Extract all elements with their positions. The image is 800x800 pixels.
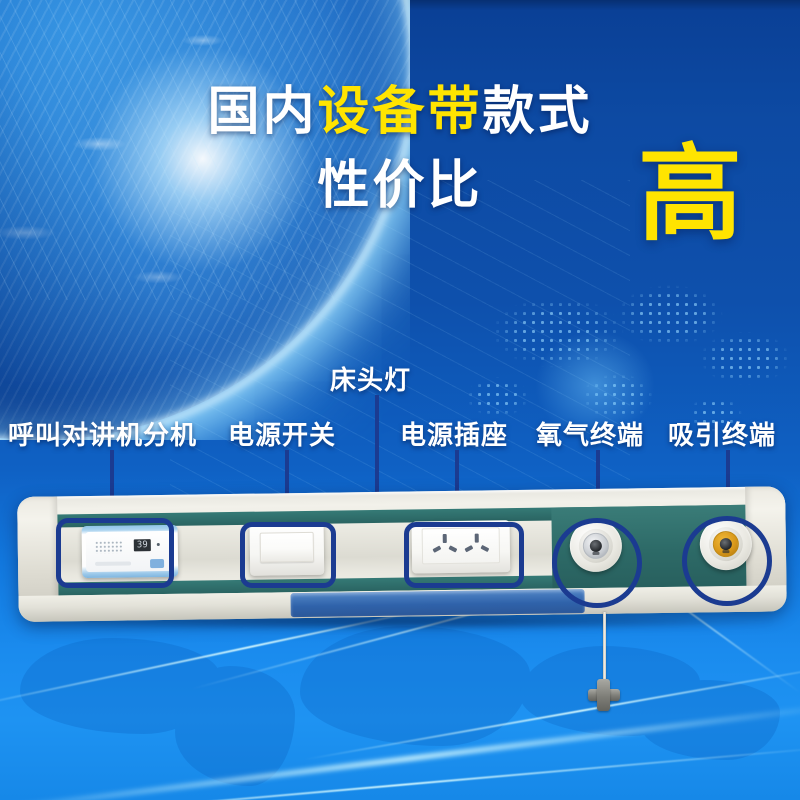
headline-line-1-part-2: 款式 [483,82,593,142]
bed-head-panel: 39 [17,486,787,622]
headline-line-1: 国内设备带款式 [0,86,800,138]
callout-label-oxygen: 氧气终端 [536,415,644,452]
power-outlet-icon[interactable] [462,533,494,559]
power-outlet-icon[interactable] [430,534,462,560]
status-led-icon [157,543,160,546]
intercom-slot [95,561,131,566]
callout-label-intercom: 呼叫对讲机分机 [8,415,197,452]
headline-line-1-highlight: 设备带 [317,82,482,142]
power-socket[interactable] [412,520,511,573]
callout-label-suction: 吸引终端 [668,415,776,452]
callout-label-power-socket: 电源插座 [400,415,508,452]
headline-big-word: 高 [638,142,742,246]
pull-cord-handle[interactable] [586,678,622,712]
power-switch[interactable] [250,523,325,576]
rocker-switch-icon[interactable] [260,532,314,563]
product-banner: 国内设备带款式 性价比 高 呼叫对讲机分机 电源开关 床头灯 电源插座 氧气终端… [0,0,800,800]
pull-cord-icon[interactable] [603,612,606,684]
lcd-display-icon: 39 [134,539,151,551]
nurse-call-intercom[interactable]: 39 [82,525,179,578]
callout-label-power-switch: 电源开关 [228,415,336,452]
bed-lamp-strip[interactable] [290,589,584,617]
headline-line-1-part-1: 国内 [207,82,317,142]
intercom-call-button[interactable] [150,559,164,568]
speaker-grille-icon [95,541,123,554]
callout-label-bed-lamp: 床头灯 [330,360,411,397]
